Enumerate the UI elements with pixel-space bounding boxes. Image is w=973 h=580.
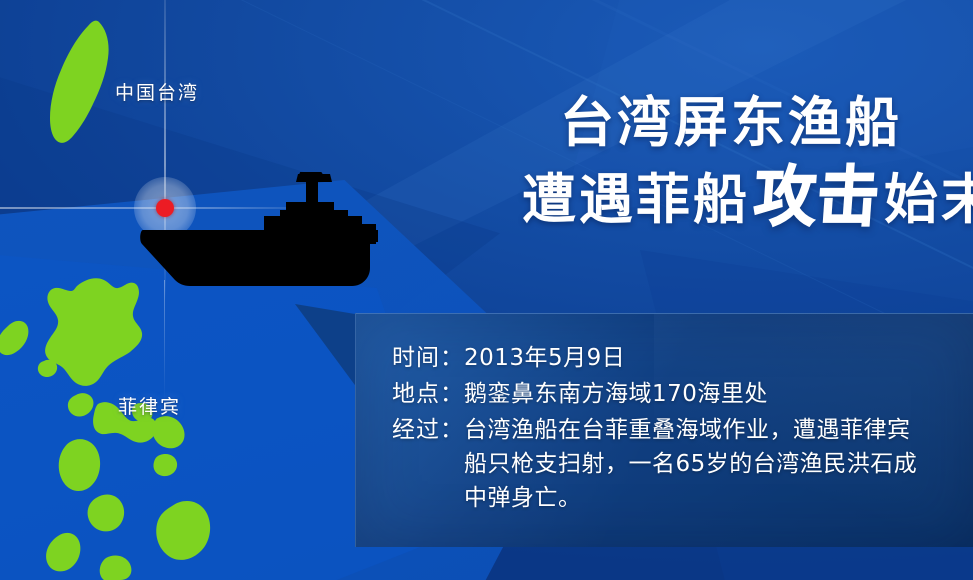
detail-value-account-line-1: 台湾渔船在台菲重叠海域作业，遭遇菲律宾 [464,413,917,447]
island-lubang-shape [38,360,57,377]
mindanao-island-shape [156,501,210,560]
detail-label-time: 时间： [392,341,464,375]
headline-line-1: 台湾屏东渔船 [358,96,973,150]
headline-emphasis-attack: 攻击 [748,164,887,230]
headline-line-2-part-a: 遭遇菲船 [522,173,750,227]
mindoro-island-shape [68,393,94,416]
luzon-island-shape [45,278,142,386]
detail-value-location: 鹅銮鼻东南方海域170海里处 [464,377,768,411]
detail-value-account-line-2: 船只枪支扫射，一名65岁的台湾渔民洪石成 [464,447,917,481]
panel-content: 时间： 2013年5月9日 地点： 鹅銮鼻东南方海域170海里处 经过： 台湾渔… [356,314,973,515]
detail-row-account: 经过： 台湾渔船在台菲重叠海域作业，遭遇菲律宾 船只枪支扫射，一名65岁的台湾渔… [392,413,973,515]
map-label-philippines: 菲律宾 [118,392,181,419]
island-samar-shape [152,416,184,448]
taiwan-island-shape [50,21,109,143]
island-small-bottom-shape [100,556,132,580]
island-bottom-left-shape [46,533,80,572]
headline-line-2: 遭遇菲船 攻击 始末 [358,166,973,228]
detail-row-location: 地点： 鹅銮鼻东南方海域170海里处 [392,377,973,411]
headline-block: 台湾屏东渔船 遭遇菲船 攻击 始末 [358,96,973,228]
detail-value-time: 2013年5月9日 [464,341,625,375]
fishing-boat-silhouette-icon [138,172,378,294]
detail-label-account: 经过： [392,413,464,447]
detail-value-account: 台湾渔船在台菲重叠海域作业，遭遇菲律宾 船只枪支扫射，一名65岁的台湾渔民洪石成… [464,413,917,515]
detail-value-account-line-3: 中弹身亡。 [464,481,917,515]
negros-island-shape [88,495,125,532]
palawan-island-shape [0,321,28,355]
panay-island-shape [59,439,100,491]
incident-details-panel: 时间： 2013年5月9日 地点： 鹅銮鼻东南方海域170海里处 经过： 台湾渔… [355,313,973,547]
detail-label-location: 地点： [392,377,464,411]
map-crosshair-vertical-line-lower [164,280,165,400]
island-bohol-shape [153,454,177,476]
map-label-taiwan: 中国台湾 [115,78,199,105]
headline-line-2-part-b: 始末 [884,173,973,227]
detail-row-time: 时间： 2013年5月9日 [392,341,973,375]
infographic-root: 中国台湾 菲律宾 台湾屏东渔船 遭遇菲船 攻击 始末 时间： 2013年5月9日… [0,0,973,580]
